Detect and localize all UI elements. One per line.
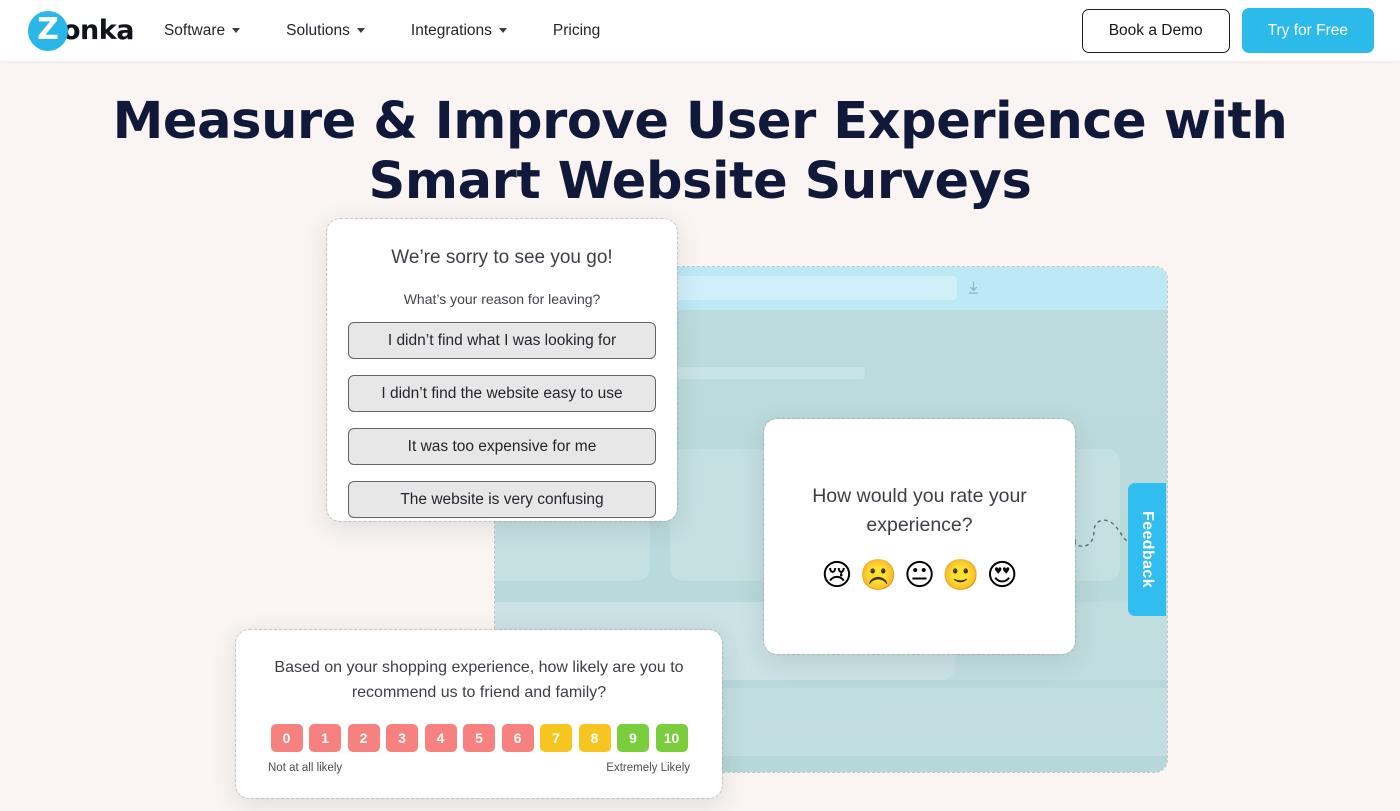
nav-label: Solutions [286, 22, 350, 40]
nps-score-7[interactable]: 7 [540, 724, 572, 752]
nps-right-label: Extremely Likely [606, 762, 690, 774]
nps-scale-labels: Not at all likely Extremely Likely [266, 762, 692, 774]
exit-intent-survey-card: We’re sorry to see you go! What’s your r… [327, 219, 677, 521]
chevron-down-icon [499, 28, 507, 33]
emoji-rating-survey-card: How would you rate your experience? 😢 ☹️… [764, 419, 1075, 654]
nps-score-4[interactable]: 4 [425, 724, 457, 752]
chevron-down-icon [357, 28, 365, 33]
exit-survey-option-3[interactable]: It was too expensive for me [348, 428, 656, 465]
nps-left-label: Not at all likely [268, 762, 342, 774]
chevron-down-icon [232, 28, 240, 33]
logo-mark-letter: Z [37, 15, 59, 45]
exit-survey-option-1[interactable]: I didn’t find what I was looking for [348, 322, 656, 359]
crying-face-emoji[interactable]: 😢 [821, 561, 852, 591]
nps-survey-card: Based on your shopping experience, how l… [236, 630, 722, 798]
nps-survey-question: Based on your shopping experience, how l… [266, 656, 692, 706]
slightly-smiling-face-emoji[interactable]: 🙂 [942, 561, 979, 591]
feedback-tab-label: Feedback [1138, 511, 1156, 588]
nav-label: Pricing [553, 22, 600, 40]
try-for-free-button[interactable]: Try for Free [1242, 8, 1374, 53]
nps-score-1[interactable]: 1 [309, 724, 341, 752]
nps-score-9[interactable]: 9 [617, 724, 649, 752]
nps-score-5[interactable]: 5 [463, 724, 495, 752]
nps-score-2[interactable]: 2 [348, 724, 380, 752]
logo-circle-icon: Z [28, 11, 68, 51]
exit-survey-option-2[interactable]: I didn’t find the website easy to use [348, 375, 656, 412]
emoji-rating-row: 😢 ☹️ 😐 🙂 😍 [821, 561, 1018, 591]
exit-survey-title: We’re sorry to see you go! [347, 247, 657, 269]
logo-wordmark: onka [62, 15, 134, 46]
nps-score-0[interactable]: 0 [271, 724, 303, 752]
feedback-tab-button[interactable]: Feedback [1128, 483, 1166, 616]
nps-score-10[interactable]: 10 [656, 724, 688, 752]
exit-survey-option-4[interactable]: The website is very confusing [348, 481, 656, 518]
nav-item-pricing[interactable]: Pricing [553, 22, 600, 40]
heart-eyes-emoji[interactable]: 😍 [987, 561, 1018, 591]
site-header: Z onka Software Solutions Integrations P… [0, 0, 1400, 61]
neutral-face-emoji[interactable]: 😐 [904, 561, 935, 591]
nav-item-solutions[interactable]: Solutions [286, 22, 365, 40]
nav-item-software[interactable]: Software [164, 22, 240, 40]
headline-line-2: Smart Website Surveys [369, 152, 1032, 211]
book-a-demo-button[interactable]: Book a Demo [1082, 9, 1230, 53]
nav-label: Integrations [411, 22, 492, 40]
nps-score-6[interactable]: 6 [502, 724, 534, 752]
nav-item-integrations[interactable]: Integrations [411, 22, 507, 40]
download-icon [968, 281, 979, 295]
page-title: Measure & Improve User Experience with S… [0, 92, 1400, 211]
frowning-face-emoji[interactable]: ☹️ [860, 561, 897, 591]
zonka-logo[interactable]: Z onka [28, 11, 134, 51]
header-actions: Book a Demo Try for Free [1082, 8, 1374, 53]
nps-score-8[interactable]: 8 [579, 724, 611, 752]
emoji-survey-question: How would you rate your experience? [805, 482, 1035, 539]
nav-label: Software [164, 22, 225, 40]
exit-survey-subtitle: What’s your reason for leaving? [347, 291, 657, 307]
main-nav: Software Solutions Integrations Pricing [164, 22, 600, 40]
nps-score-row: 012345678910 [266, 724, 692, 752]
headline-line-1: Measure & Improve User Experience with [113, 92, 1288, 151]
nps-score-3[interactable]: 3 [386, 724, 418, 752]
